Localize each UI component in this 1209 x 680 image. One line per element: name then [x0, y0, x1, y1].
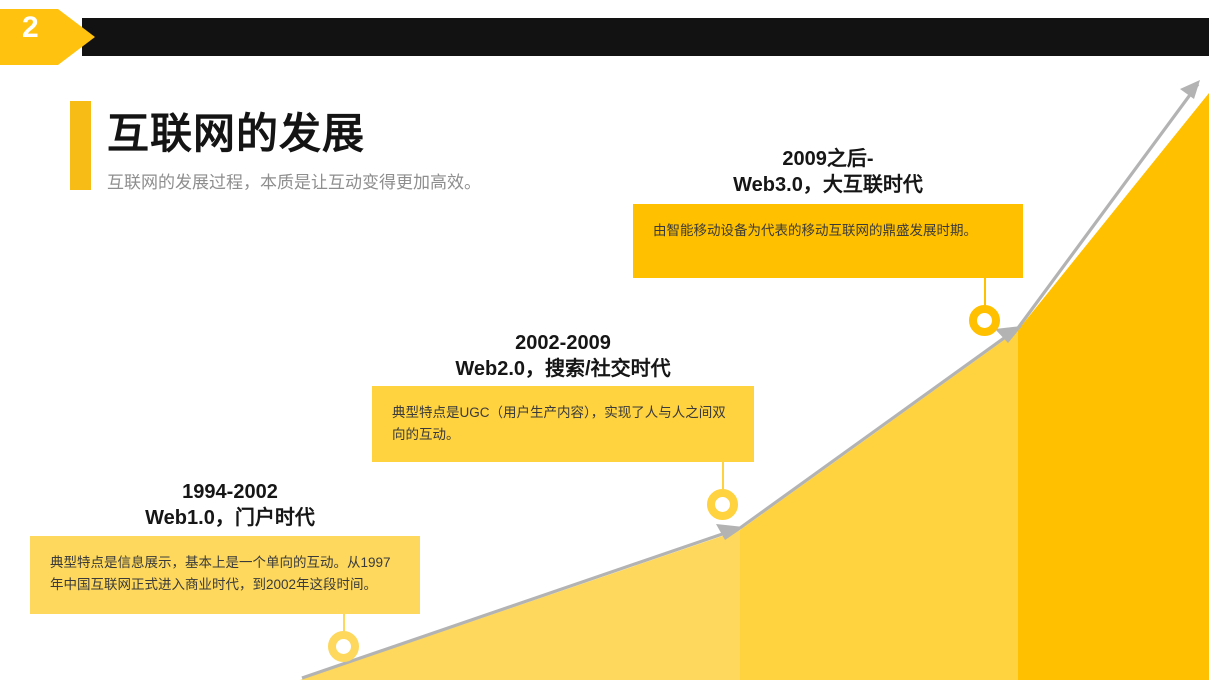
slide-number: 2 — [22, 5, 68, 51]
stage-name-web3: Web3.0，大互联时代 — [633, 172, 1023, 198]
mountain-segment-dark — [1018, 93, 1209, 680]
stage-body-box-web1: 典型特点是信息展示，基本上是一个单向的互动。从1997年中国互联网正式进入商业时… — [30, 536, 420, 614]
stage-connector-stem-web3 — [984, 278, 986, 306]
stage-name-web2: Web2.0，搜索/社交时代 — [372, 356, 754, 382]
stage-body-box-web2: 典型特点是UGC（用户生产内容），实现了人与人之间双向的互动。 — [372, 386, 754, 462]
timeline-marker-web2[interactable] — [707, 489, 738, 520]
stage-body-box-web3: 由智能移动设备为代表的移动互联网的鼎盛发展时期。 — [633, 204, 1023, 278]
top-bar: 2 — [0, 18, 1209, 56]
stage-heading-web3: 2009之后- Web3.0，大互联时代 — [633, 146, 1023, 199]
stage-period-web3: 2009之后- — [633, 146, 1023, 172]
page-title: 互联网的发展 — [107, 100, 365, 161]
mountain-segment-mid — [740, 330, 1018, 680]
slide-canvas: 2 互联网的发展 互联网的发展过程，本质是让互动变得更加高效。 1994-200… — [0, 0, 1209, 680]
stage-period-web1: 1994-2002 — [35, 479, 425, 505]
stage-name-web1: Web1.0，门户时代 — [35, 505, 425, 531]
timeline-marker-web1[interactable] — [328, 631, 359, 662]
stage-connector-stem-web2 — [722, 462, 724, 490]
top-bar-black-strip — [82, 18, 1209, 56]
page-subtitle: 互联网的发展过程，本质是让互动变得更加高效。 — [107, 168, 481, 193]
timeline-marker-web3[interactable] — [969, 305, 1000, 336]
title-accent-bar — [70, 101, 91, 190]
stage-heading-web1: 1994-2002 Web1.0，门户时代 — [35, 479, 425, 532]
stage-heading-web2: 2002-2009 Web2.0，搜索/社交时代 — [372, 330, 754, 383]
stage-period-web2: 2002-2009 — [372, 330, 754, 356]
